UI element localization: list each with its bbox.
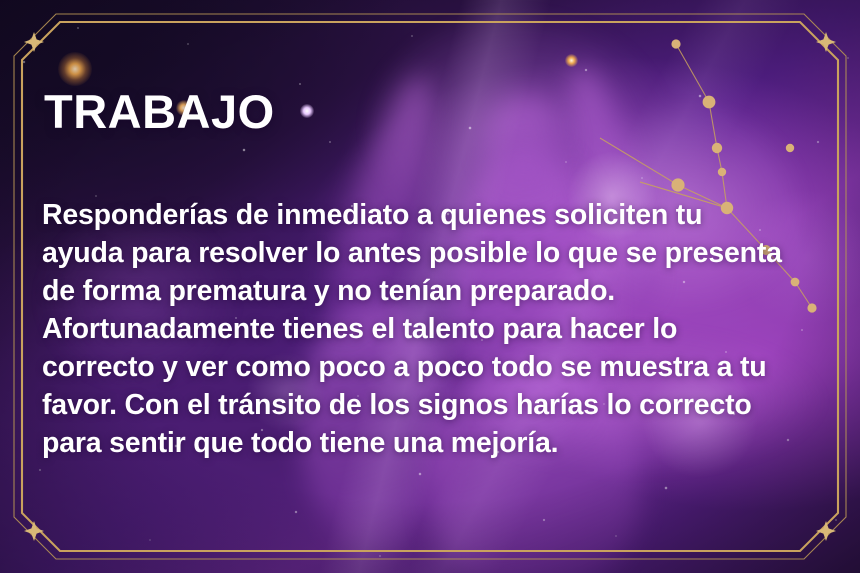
sparkle-top-right	[816, 32, 836, 52]
body-line: para sentir que todo tiene una mejoría.	[42, 424, 832, 462]
page-title: TRABAJO	[44, 88, 275, 135]
sparkle-top-left	[24, 32, 44, 52]
body-line: Afortunadamente tienes el talento para h…	[42, 310, 832, 348]
body-line: favor. Con el tránsito de los signos har…	[42, 386, 832, 424]
body-line: Responderías de inmediato a quienes soli…	[42, 196, 832, 234]
sparkle-bottom-left	[24, 521, 44, 541]
horoscope-card: TRABAJO Responderías de inmediato a quie…	[0, 0, 860, 573]
body-line: ayuda para resolver lo antes posible lo …	[42, 234, 832, 272]
card-content: TRABAJO Responderías de inmediato a quie…	[42, 0, 818, 573]
body-line: correcto y ver como poco a poco todo se …	[42, 348, 832, 386]
sparkle-bottom-right	[816, 521, 836, 541]
horoscope-body-text: Responderías de inmediato a quienes soli…	[42, 196, 832, 462]
body-line: de forma prematura y no tenían preparado…	[42, 272, 832, 310]
